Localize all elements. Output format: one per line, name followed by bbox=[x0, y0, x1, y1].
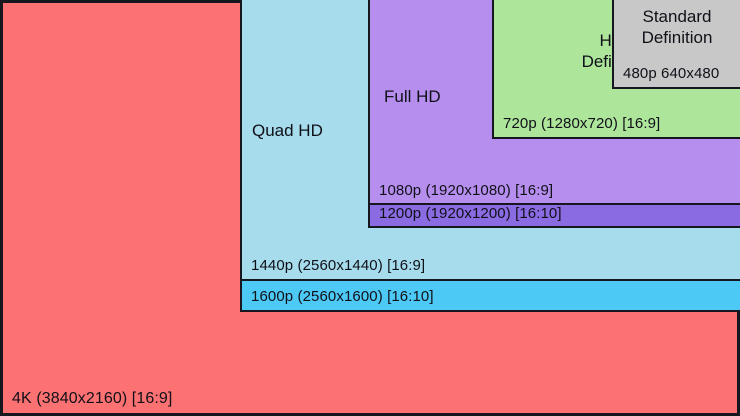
resolution-spec-label-1080p: 1080p (1920x1080) [16:9] bbox=[379, 181, 553, 200]
resolution-name-line2-480p: Definition bbox=[642, 28, 713, 47]
resolution-spec-label-1600p: 1600p (2560x1600) [16:10] bbox=[251, 287, 434, 306]
resolution-spec-label-1200p: 1200p (1920x1200) [16:10] bbox=[379, 204, 562, 223]
resolution-spec-label-4k: 4K (3840x2160) [16:9] bbox=[12, 389, 172, 408]
resolution-spec-label-1440p: 1440p (2560x1440) [16:9] bbox=[251, 256, 425, 275]
resolution-name-label-480p: StandardDefinition bbox=[614, 6, 740, 48]
resolution-name-line1-480p: Standard bbox=[643, 7, 712, 26]
resolution-name-label-1440p: Quad HD bbox=[252, 120, 323, 141]
resolution-spec-label-480p: 480p 640x480 bbox=[623, 64, 719, 83]
resolution-box-480p[interactable]: StandardDefinition 480p 640x480 bbox=[612, 0, 740, 89]
resolution-spec-label-720p: 720p (1280x720) [16:9] bbox=[503, 114, 660, 133]
resolution-name-label-1080p: Full HD bbox=[384, 86, 441, 107]
resolution-comparison-figure: 4K (3840x2160) [16:9] 1600p (2560x1600) … bbox=[0, 0, 740, 416]
